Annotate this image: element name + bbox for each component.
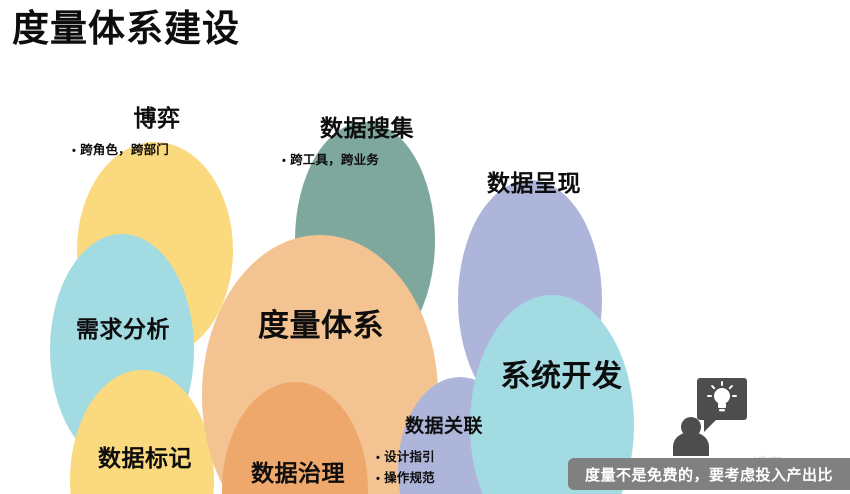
slide-canvas: 度量体系建设 博弈 跨角色，跨部门 数据搜集 跨 (0, 0, 850, 494)
person-body-icon (673, 432, 709, 456)
caption-text: 度量不是免费的，要考虑投入产出比 (585, 464, 833, 485)
bubble-ellipse-group (50, 122, 634, 494)
person-idea-icon (666, 372, 750, 456)
caption-bar: 度量不是免费的，要考虑投入产出比 (568, 458, 850, 490)
page-title: 度量体系建设 (12, 6, 240, 52)
